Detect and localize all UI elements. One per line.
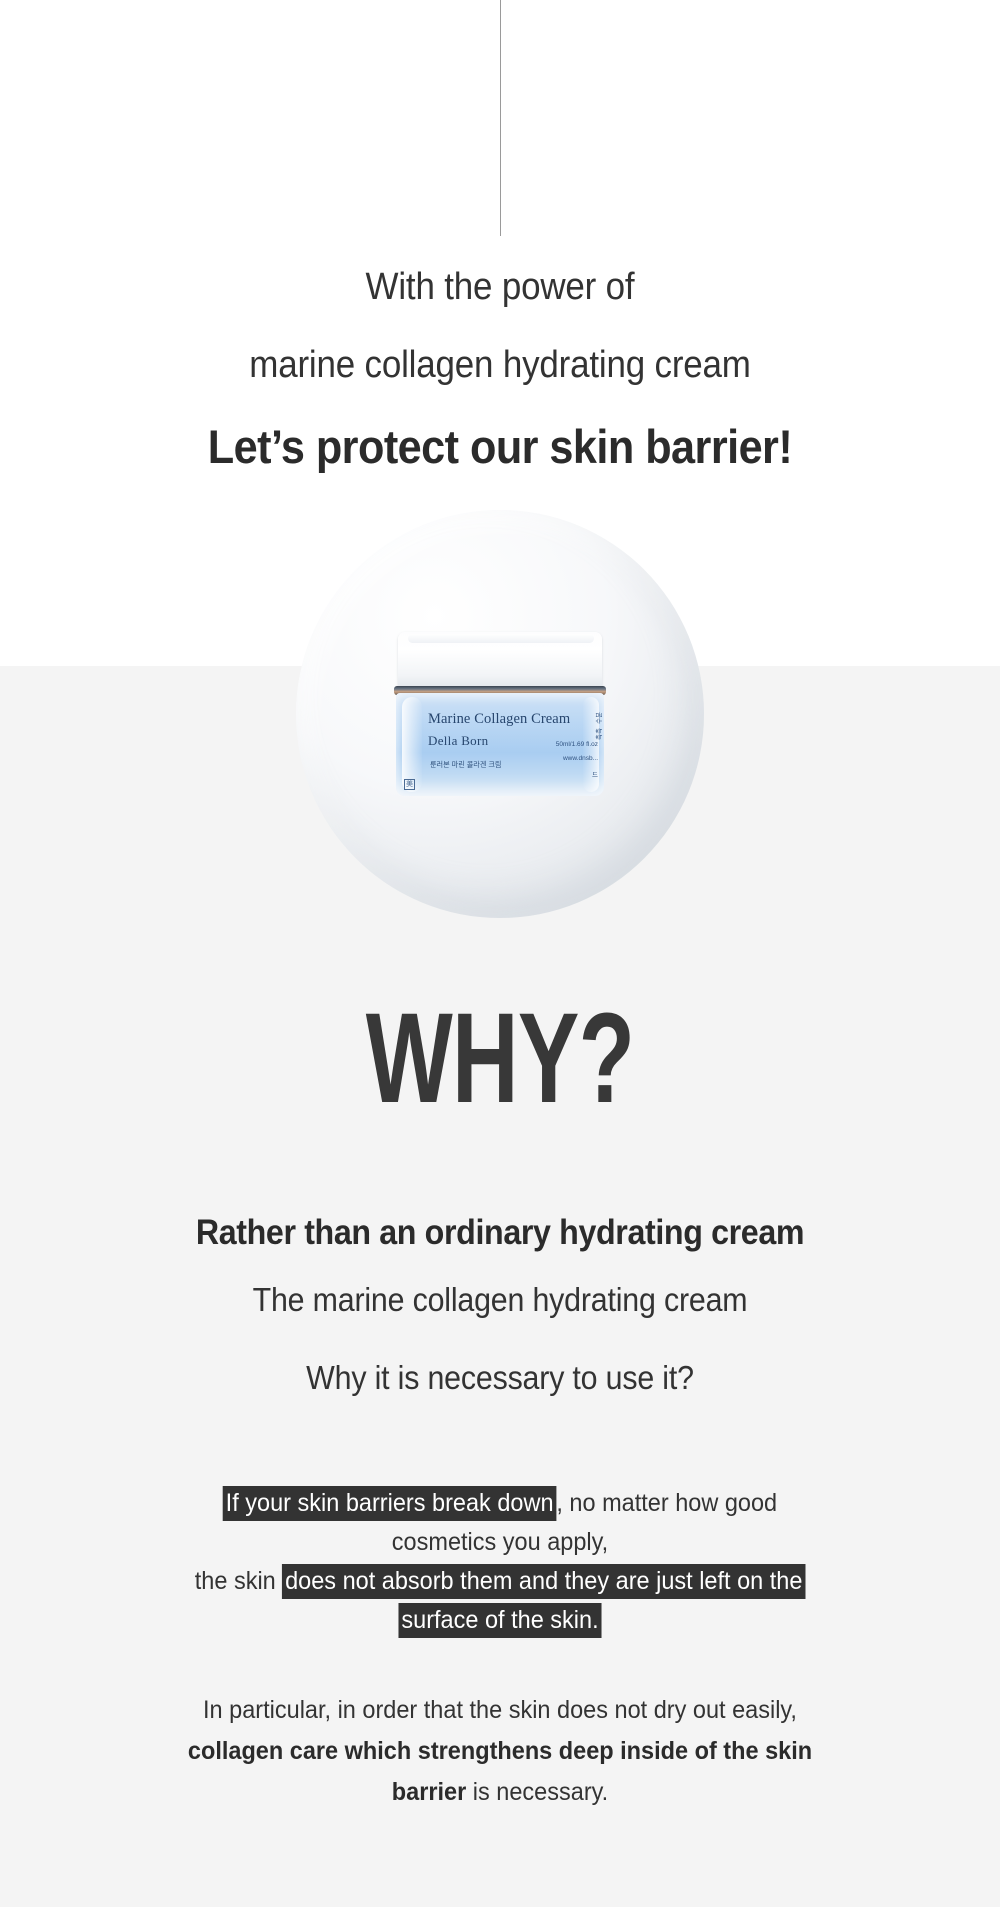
why-heading: WHY? [140,995,860,1123]
jar-side-text-1: 수분 [593,712,603,724]
closing-row-1: In particular, in order that the skin do… [30,1690,970,1731]
highlighted-paragraph: If your skin barriers break down, no mat… [30,1484,970,1640]
closing-row-3-plain: is necessary. [466,1778,608,1806]
closing-row-2: collagen care which strengthens deep ins… [30,1731,970,1772]
jar-label-korean: 룬러본 마린 콜라겐 크림 [430,759,502,770]
intro-headline: Let’s protect our skin barrier! [40,404,960,490]
highlighted-row-2: cosmetics you apply, [30,1523,970,1562]
closing-paragraph: In particular, in order that the skin do… [30,1690,970,1813]
jar-lid [398,632,602,688]
vertical-divider-line [500,0,501,236]
why-line-3: Why it is necessary to use it? [40,1339,960,1417]
intro-heading-block: With the power of marine collagen hydrat… [0,248,1000,490]
highlighted-row-4: surface of the skin. [30,1601,970,1640]
intro-line-1: With the power of [40,248,960,326]
jar-badge-icon: 美 [404,779,415,790]
jar-side-text-column: 수분 촉촉 50ml/1.69 fl.oz www.dnsb... 드 [552,701,598,793]
jar-body: Marine Collagen Cream Della Born 룬러본 마린 … [396,693,604,796]
jar-label-title: Marine Collagen Cream [428,711,570,728]
highlight-does-not-absorb: does not absorb them and they are just l… [282,1564,805,1599]
highlighted-row-1: If your skin barriers break down, no mat… [30,1484,970,1523]
why-subheading-block: Rather than an ordinary hydrating cream … [0,1205,1000,1417]
jar-lid-highlight [408,634,594,643]
jar-side-text-3: 50ml/1.69 fl.oz [556,741,598,748]
closing-row-3: barrier is necessary. [30,1772,970,1813]
intro-line-2: marine collagen hydrating cream [40,326,960,404]
why-strong-line: Rather than an ordinary hydrating cream [40,1205,960,1261]
highlighted-row-1-plain: , no matter how good [556,1489,777,1517]
product-detail-page: With the power of marine collagen hydrat… [0,0,1000,1907]
product-image: Marine Collagen Cream Della Born 룬러본 마린 … [296,510,704,918]
highlight-barriers-break-down: If your skin barriers break down [223,1486,556,1521]
jar-side-text-4: www.dnsb... [563,755,598,762]
highlighted-row-3-plain: the skin [195,1567,283,1595]
why-line-2: The marine collagen hydrating cream [40,1261,960,1339]
jar-label-brand: Della Born [428,733,488,749]
highlight-surface-of-skin: surface of the skin. [399,1603,602,1638]
closing-row-3-bold: barrier [392,1778,466,1806]
jar-side-text-2: 촉촉 [593,728,603,740]
closing-row-2-bold: collagen care which strengthens deep ins… [188,1737,812,1765]
highlighted-row-3: the skin does not absorb them and they a… [30,1562,970,1601]
cream-jar: Marine Collagen Cream Della Born 룬러본 마린 … [392,632,608,800]
jar-gloss-left [402,697,422,792]
jar-side-text-5: 드 [592,769,598,779]
